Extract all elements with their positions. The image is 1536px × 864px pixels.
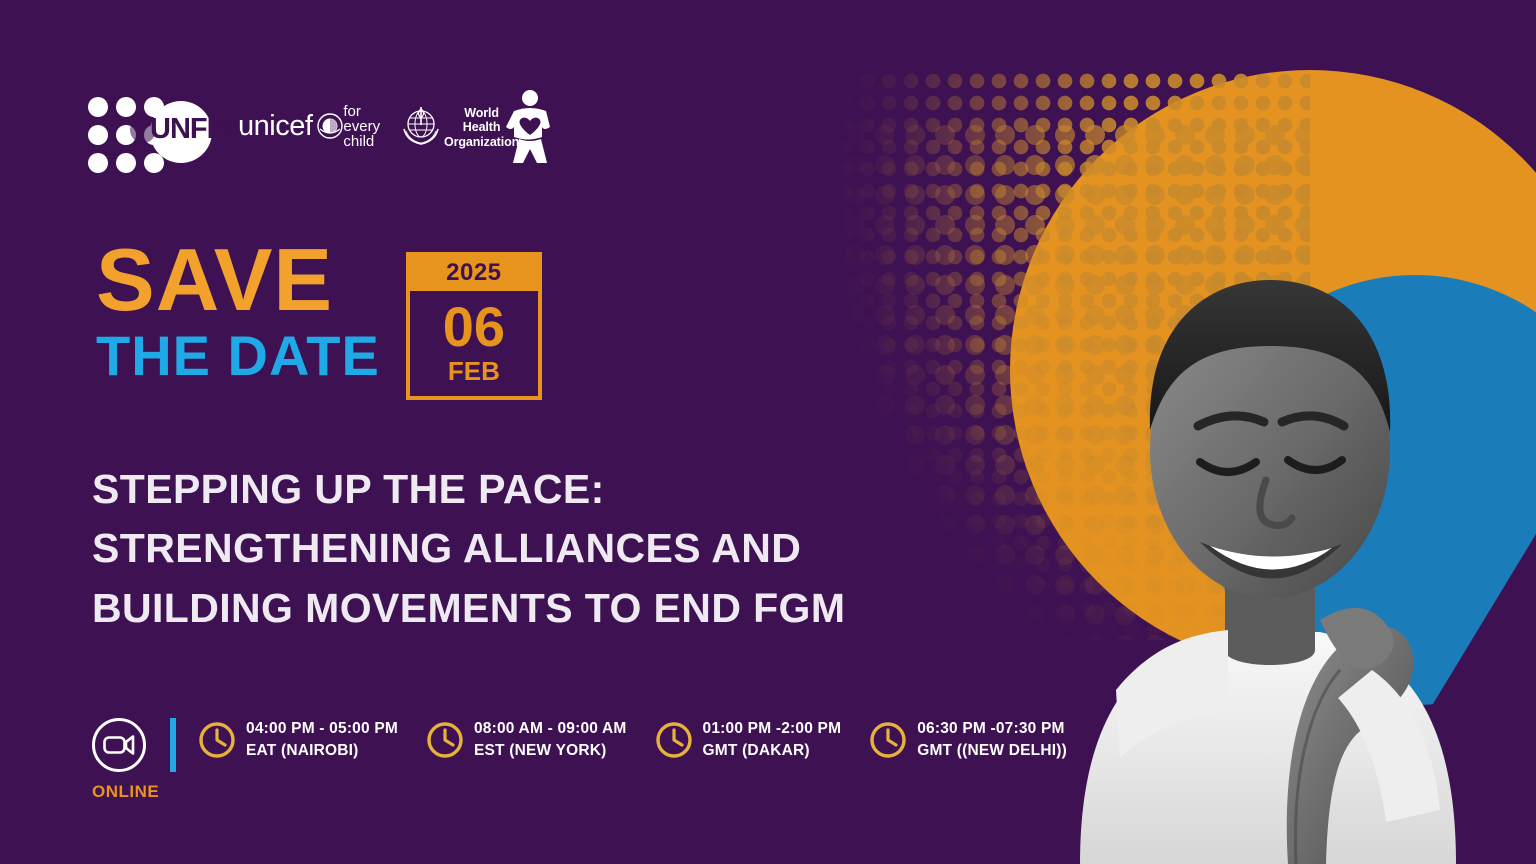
the-date-word: THE DATE (96, 327, 380, 386)
schedule-bar: ONLINE 04:00 PM - 05:00 PM EAT (NAIROBI)… (92, 718, 1095, 802)
girl-with-heart-icon (506, 89, 554, 163)
unicef-tagline: for every child (343, 104, 380, 149)
unicef-emblem-icon (317, 113, 343, 139)
timezone-time-1: 08:00 AM - 09:00 AM (474, 718, 627, 740)
timezone-zone-1: EST (NEW YORK) (474, 740, 627, 762)
schedule-divider (170, 718, 176, 772)
headline-line-3: BUILDING MOVEMENTS TO END FGM (92, 579, 845, 638)
timezone-item-2: 01:00 PM -2:00 PM GMT (DAKAR) (655, 718, 842, 762)
timezone-zone-3: GMT ((NEW DELHI)) (917, 740, 1067, 762)
online-label: ONLINE (92, 782, 170, 802)
timezone-item-0: 04:00 PM - 05:00 PM EAT (NAIROBI) (198, 718, 398, 762)
timezone-item-3: 06:30 PM -07:30 PM GMT ((NEW DELHI)) (869, 718, 1067, 762)
clock-icon (869, 721, 907, 759)
partner-logo-row: UNFPA unicef for every child (88, 84, 554, 168)
who-logo: World Health Organization (398, 84, 480, 168)
calendar-badge: 2025 06 FEB (406, 252, 542, 400)
event-headline: STEPPING UP THE PACE: STRENGTHENING ALLI… (92, 460, 845, 638)
headline-line-1: STEPPING UP THE PACE: (92, 460, 845, 519)
save-the-date-poster: UNFPA unicef for every child (0, 0, 1536, 864)
headline-line-2: STRENGTHENING ALLIANCES AND (92, 519, 845, 578)
timezone-time-3: 06:30 PM -07:30 PM (917, 718, 1067, 740)
girl-figure-logo (506, 89, 554, 163)
timezone-zone-0: EAT (NAIROBI) (246, 740, 398, 762)
unfpa-logo: UNFPA (88, 87, 216, 165)
save-word: SAVE (96, 240, 380, 321)
online-block: ONLINE (92, 718, 170, 802)
clock-icon (655, 721, 693, 759)
unfpa-wordmark: UNFPA (150, 115, 270, 144)
clock-icon (198, 721, 236, 759)
video-camera-icon (92, 718, 146, 772)
clock-icon (426, 721, 464, 759)
calendar-month: FEB (448, 356, 500, 387)
calendar-year: 2025 (410, 256, 538, 291)
timezone-zone-2: GMT (DAKAR) (703, 740, 842, 762)
camera-glyph (103, 734, 135, 756)
calendar-day: 06 (443, 300, 505, 353)
who-emblem-icon (398, 103, 444, 149)
save-the-date-block: SAVE THE DATE 2025 06 FEB (96, 240, 542, 400)
timezone-time-2: 01:00 PM -2:00 PM (703, 718, 842, 740)
timezone-item-1: 08:00 AM - 09:00 AM EST (NEW YORK) (426, 718, 627, 762)
timezone-time-0: 04:00 PM - 05:00 PM (246, 718, 398, 740)
